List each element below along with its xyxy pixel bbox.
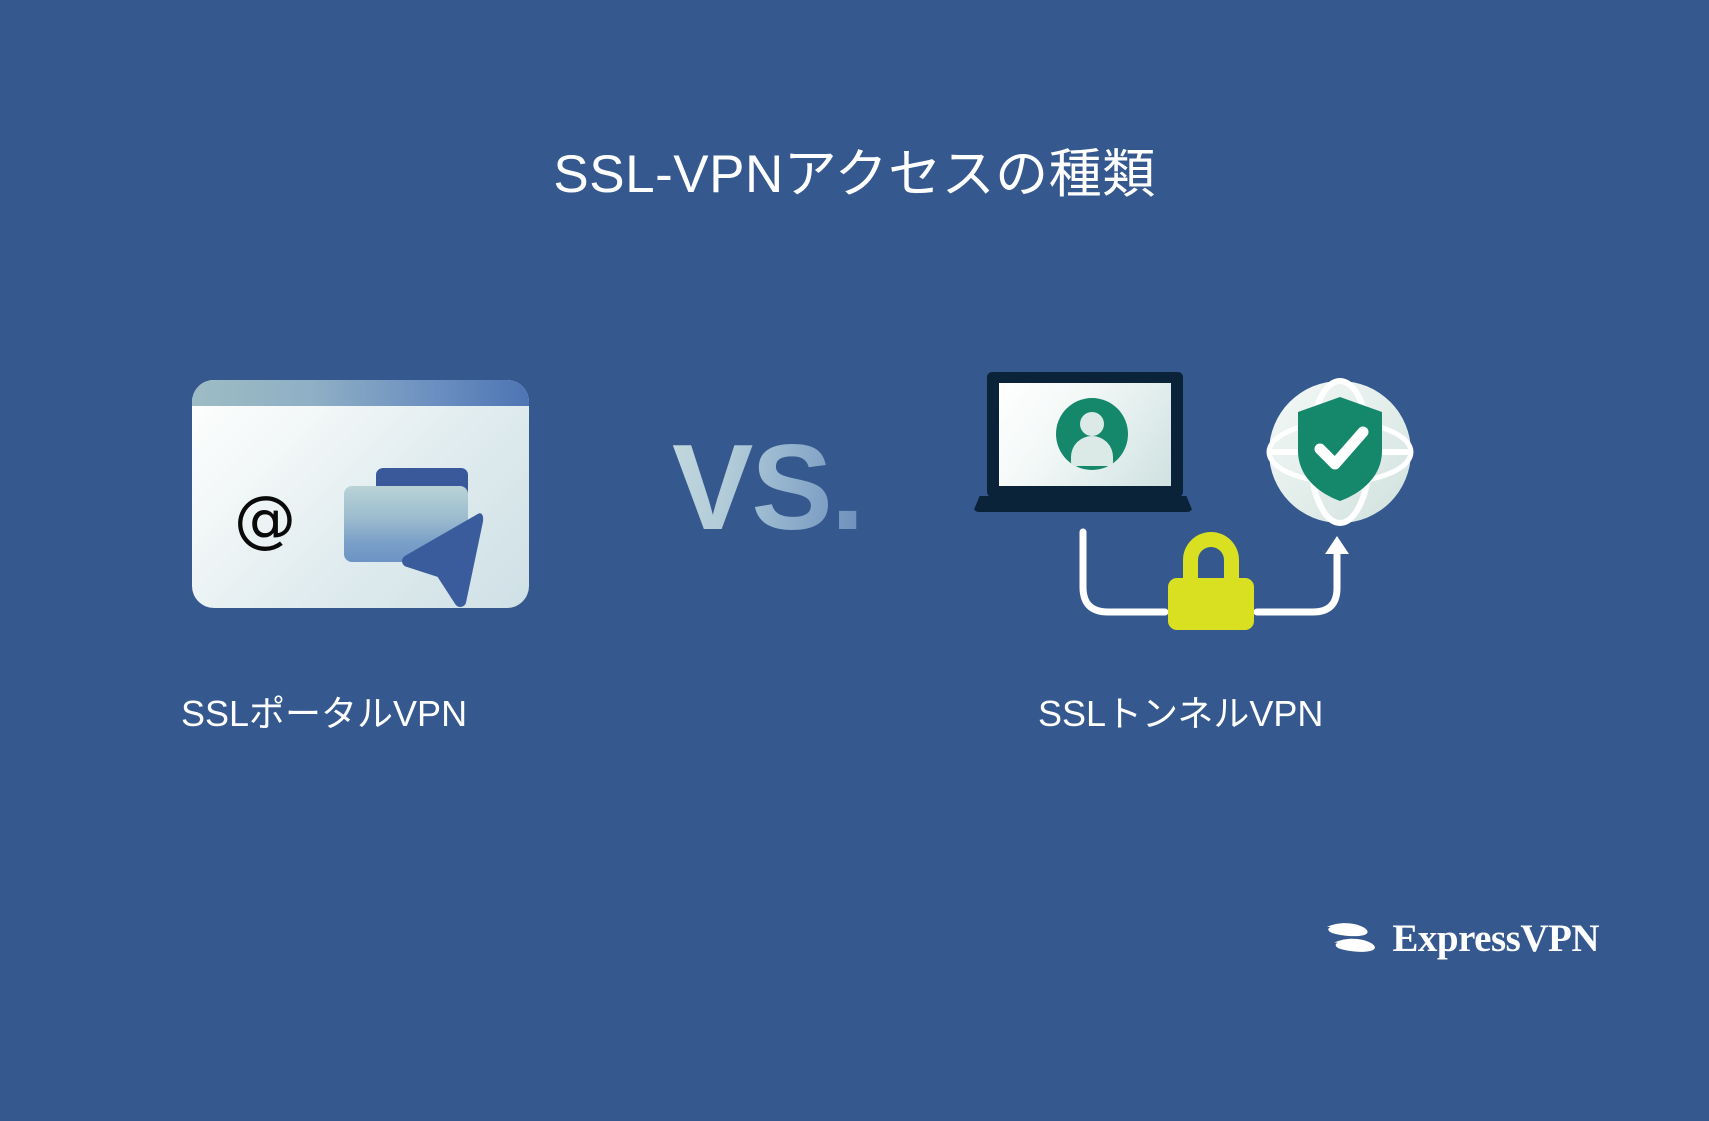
at-symbol-icon: @: [234, 488, 296, 550]
expressvpn-logo: ExpressVPN: [1322, 915, 1599, 961]
infographic-canvas: SSL-VPNアクセスの種類 @ VS.: [0, 0, 1709, 1121]
page-title: SSL-VPNアクセスの種類: [0, 143, 1709, 207]
expressvpn-wordmark: ExpressVPN: [1392, 916, 1599, 961]
padlock-body: [1168, 578, 1254, 630]
avatar-body-shape: [1071, 436, 1113, 466]
laptop-icon: [973, 372, 1193, 517]
laptop-base: [973, 496, 1193, 512]
caption-ssl-portal-vpn: SSLポータルVPN: [181, 692, 467, 735]
ssl-tunnel-illustration: [965, 372, 1425, 642]
expressvpn-logo-icon: [1322, 915, 1378, 961]
versus-label: VS.: [672, 426, 863, 548]
avatar-head-shape: [1080, 412, 1104, 436]
laptop-frame: [987, 372, 1183, 497]
caption-ssl-tunnel-vpn: SSLトンネルVPN: [1038, 692, 1323, 735]
laptop-screen: [999, 383, 1171, 486]
user-avatar-icon: [1056, 398, 1128, 470]
browser-title-bar: [192, 380, 529, 406]
ssl-portal-illustration: @: [192, 380, 529, 608]
padlock-icon: [1168, 532, 1254, 630]
globe-shield-icon: [1265, 377, 1415, 527]
